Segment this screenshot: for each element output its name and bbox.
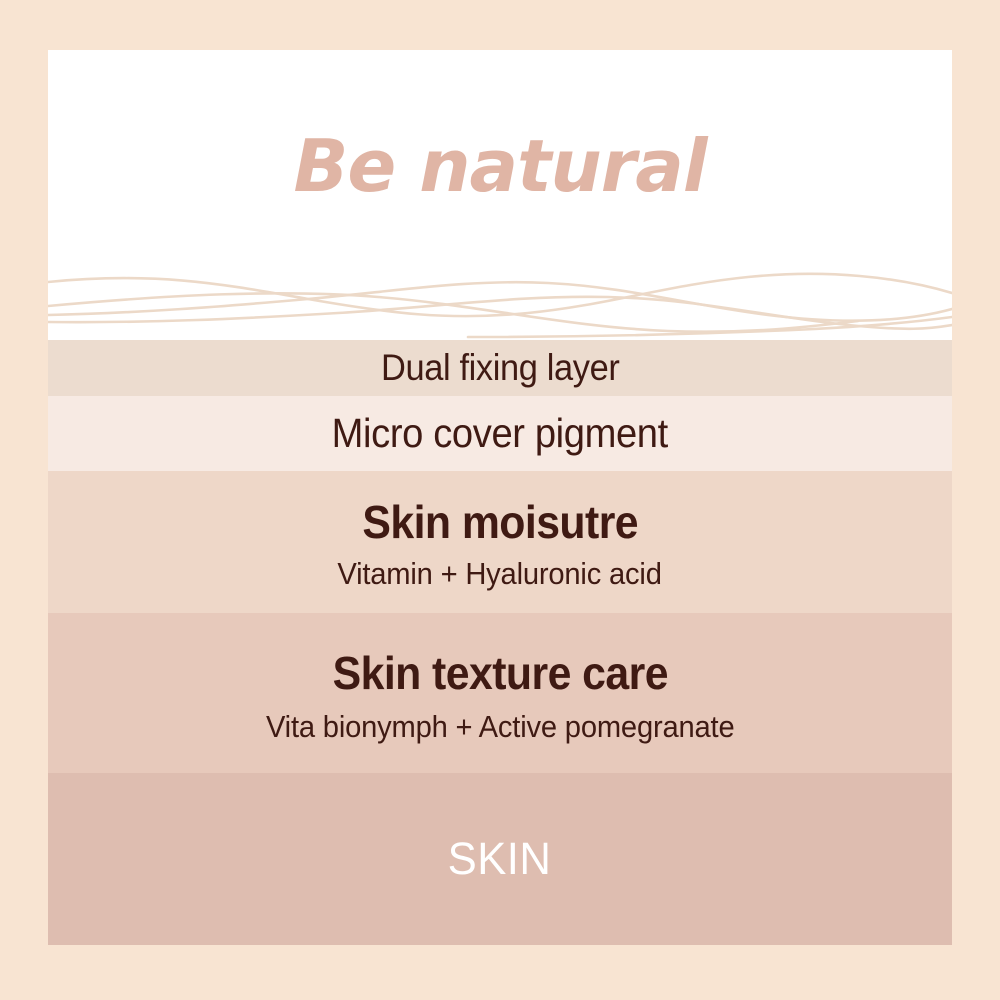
layer-band-skin: SKIN xyxy=(48,773,952,945)
layer-subtitle: Vitamin + Hyaluronic acid xyxy=(338,558,662,591)
layer-band-skin-moisture: Skin moisutre Vitamin + Hyaluronic acid xyxy=(48,471,952,613)
layer-band-dual-fixing-layer: Dual fixing layer xyxy=(48,340,952,396)
layer-band-skin-texture-care: Skin texture care Vita bionymph + Active… xyxy=(48,613,952,773)
layer-title: Skin texture care xyxy=(332,649,667,697)
wavy-lines-decoration xyxy=(48,265,952,340)
layer-title: Micro cover pigment xyxy=(332,412,668,455)
layer-band-micro-cover-pigment: Micro cover pigment xyxy=(48,396,952,471)
content-card: Be natural Dual fixing layer Micro cover… xyxy=(48,50,952,945)
layer-title: SKIN xyxy=(448,835,552,882)
hero-section: Be natural xyxy=(48,50,952,340)
poster-root: Be natural Dual fixing layer Micro cover… xyxy=(0,0,1000,1000)
layer-title: Dual fixing layer xyxy=(381,349,619,388)
layer-subtitle: Vita bionymph + Active pomegranate xyxy=(266,711,735,744)
page-title: Be natural xyxy=(48,130,952,202)
layer-title: Skin moisutre xyxy=(362,498,638,546)
